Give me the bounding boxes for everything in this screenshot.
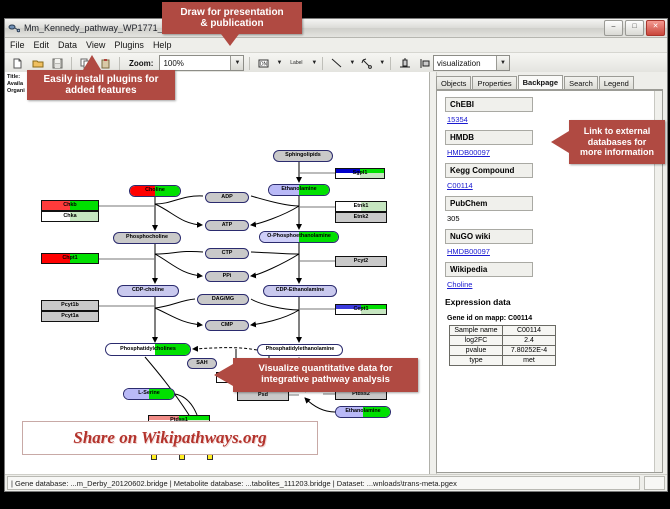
node-pcyt1a[interactable]: Pcyt1a (41, 311, 99, 322)
section-header-nugowiki: NuGO wiki (445, 229, 533, 244)
link-nugowiki[interactable]: HMDB00097 (447, 247, 662, 256)
tab-backpage[interactable]: Backpage (518, 75, 563, 89)
section-header-chebi: ChEBI (445, 97, 533, 112)
node-chpt1[interactable]: Chpt1 (41, 253, 99, 264)
menu-item-edit[interactable]: Edit (34, 40, 50, 50)
section-header-hmdb: HMDB (445, 130, 533, 145)
chevron-down-icon[interactable]: ▼ (496, 56, 509, 70)
expression-data-heading: Expression data (445, 297, 662, 307)
tab-legend[interactable]: Legend (599, 76, 634, 89)
title-bar: Mm_Kennedy_pathway_WP1771_45176.gpml - P… (5, 19, 667, 38)
node-ethanolamine-2[interactable]: Ethanolamine (335, 406, 391, 418)
node-label: PPi (223, 274, 232, 279)
node-atp[interactable]: ATP (205, 220, 249, 231)
node-label: Pcyt1b (61, 303, 79, 308)
node-etnk1[interactable]: Etnk1 (335, 201, 387, 212)
menu-item-file[interactable]: File (10, 40, 25, 50)
node-label: Cept1 (354, 307, 369, 312)
window-controls: – □ ✕ (604, 20, 665, 36)
canvas-meta-available: Availa (7, 81, 23, 87)
node-label: CDP-choline (132, 288, 164, 293)
node-label: Sphingolipids (285, 153, 321, 158)
toolbar-separator (119, 57, 120, 70)
menu-item-view[interactable]: View (86, 40, 105, 50)
node-label: Pcyt1a (61, 314, 78, 319)
node-ppi[interactable]: PPi (205, 271, 249, 282)
node-label: L-Serine (138, 391, 160, 396)
chevron-down-icon[interactable]: ▼ (379, 60, 385, 66)
callout-arrow-left-links (551, 131, 569, 153)
node-label: Sgpl1 (353, 171, 368, 176)
table-row: pvalue 7.80252E-4 (450, 346, 556, 356)
pathvisio-icon (8, 22, 20, 34)
gene-id-line: Gene id on mapp: C00114 (447, 315, 662, 322)
cell-key: log2FC (450, 336, 503, 346)
interaction-icon[interactable] (358, 55, 375, 72)
maximize-button[interactable]: □ (625, 20, 644, 36)
callout-arrow-down-draw (221, 34, 239, 46)
node-label: Choline (145, 188, 165, 193)
label-icon[interactable]: Label (285, 55, 307, 72)
node-label: Ptdss2 (352, 392, 370, 397)
node-label: Chka (63, 214, 76, 219)
datanode-icon[interactable]: DN (255, 55, 272, 72)
node-label: DAG/MG (212, 297, 234, 302)
node-label: Phosphocholine (126, 235, 168, 240)
pathway-canvas[interactable]: Title: Availa Organi (5, 72, 430, 475)
callout-install-plugins: Easily install plugins for added feature… (27, 70, 175, 100)
node-ethanolamine-1[interactable]: Ethanolamine (268, 184, 330, 196)
cell-value: met (503, 356, 556, 366)
expression-table: Sample name C00114 log2FC 2.4 pvalue 7.8… (449, 325, 556, 366)
value-pubchem: 305 (447, 214, 662, 223)
close-button[interactable]: ✕ (646, 20, 665, 36)
node-phosphatidylcholines[interactable]: Phosphatidylcholines (105, 343, 191, 356)
node-cept1[interactable]: Cept1 (335, 304, 387, 315)
tab-properties[interactable]: Properties (472, 76, 516, 89)
toolbar-separator (71, 57, 72, 70)
node-label: Ethanolamine (345, 409, 380, 414)
node-label: CMP (221, 323, 233, 328)
section-header-kegg: Kegg Compound (445, 163, 533, 178)
section-header-wikipedia: Wikipedia (445, 262, 533, 277)
node-chka[interactable]: Chka (41, 211, 99, 222)
callout-share-wikipathways: Share on Wikipathways.org (22, 421, 318, 455)
new-file-icon[interactable] (9, 55, 26, 72)
panel-tabs: Objects Properties Backpage Search Legen… (436, 75, 663, 90)
table-row: log2FC 2.4 (450, 336, 556, 346)
status-bar: | Gene database: ...m_Derby_20120602.bri… (5, 474, 667, 491)
node-label: Etnk1 (354, 204, 369, 209)
node-adp[interactable]: ADP (205, 192, 249, 203)
node-l-serine-left[interactable]: L-Serine (123, 388, 175, 400)
canvas-meta-title: Title: (7, 74, 20, 80)
cell-key: type (450, 356, 503, 366)
node-label: ADP (221, 195, 232, 200)
node-ctp[interactable]: CTP (205, 248, 249, 259)
node-label: Pcyt2 (354, 259, 368, 264)
menu-bar: File Edit Data View Plugins Help (5, 38, 667, 53)
open-folder-icon[interactable] (29, 55, 46, 72)
tab-objects[interactable]: Objects (436, 76, 471, 89)
node-label: O-Phosphoethanolamine (267, 234, 331, 239)
node-label: CTP (222, 251, 233, 256)
node-sah[interactable]: SAH (187, 358, 217, 369)
visualization-value: visualization (437, 59, 481, 68)
chevron-down-icon[interactable]: ▼ (230, 56, 243, 70)
node-phosphocholine[interactable]: Phosphocholine (113, 232, 181, 244)
callout-arrow-up-plugins (83, 55, 101, 70)
node-label: SAH (196, 361, 207, 366)
tab-search[interactable]: Search (564, 76, 598, 89)
visualization-combo[interactable]: visualization ▼ (433, 55, 510, 71)
cell-value: C00114 (503, 326, 556, 336)
cell-key: Sample name (450, 326, 503, 336)
node-label: Phosphatidylethanolamine (266, 347, 335, 352)
callout-visualize-data: Visualize quantitative data for integrat… (233, 358, 418, 392)
align-left-icon[interactable] (416, 55, 433, 72)
node-label: ATP (222, 223, 232, 228)
status-resize-grip[interactable] (644, 476, 665, 490)
canvas-meta-organism: Organi (7, 88, 25, 94)
link-kegg[interactable]: C00114 (447, 181, 662, 190)
node-pcyt2[interactable]: Pcyt2 (335, 256, 387, 267)
node-pcyt1b[interactable]: Pcyt1b (41, 300, 99, 311)
toolbar-separator (249, 57, 250, 70)
node-label: Psd (258, 393, 268, 398)
table-row: Sample name C00114 (450, 326, 556, 336)
zoom-value: 100% (163, 59, 183, 68)
callout-external-links: Link to external databases for more info… (569, 120, 665, 164)
node-label: Phosphatidylcholines (120, 347, 176, 352)
status-text: | Gene database: ...m_Derby_20120602.bri… (7, 476, 640, 490)
node-dag-mg[interactable]: DAG/MG (197, 294, 249, 305)
chevron-down-icon[interactable]: ▼ (311, 60, 317, 66)
chevron-down-icon[interactable]: ▼ (276, 60, 282, 66)
save-icon[interactable] (49, 55, 66, 72)
zoom-label: Zoom: (129, 59, 153, 68)
minimize-button[interactable]: – (604, 20, 623, 36)
node-cdp-choline[interactable]: CDP-choline (117, 285, 179, 297)
node-label: Etnk2 (354, 215, 369, 220)
table-row: type met (450, 356, 556, 366)
menu-item-help[interactable]: Help (153, 40, 172, 50)
node-cdp-ethanolamine[interactable]: CDP-Ethanolamine (263, 285, 337, 297)
node-label: CDP-Ethanolamine (276, 288, 325, 293)
node-label: Ethanolamine (281, 187, 316, 192)
line-icon[interactable] (328, 55, 345, 72)
node-phosphatidylethanolamine[interactable]: Phosphatidylethanolamine (257, 344, 343, 356)
zoom-combo[interactable]: 100% ▼ (159, 55, 244, 71)
link-wikipedia[interactable]: Choline (447, 280, 662, 289)
node-etnk2[interactable]: Etnk2 (335, 212, 387, 223)
node-choline-top[interactable]: Choline (129, 185, 181, 197)
section-header-pubchem: PubChem (445, 196, 533, 211)
align-top-icon[interactable] (396, 55, 413, 72)
chevron-down-icon[interactable]: ▼ (349, 60, 355, 66)
node-sphingolipids[interactable]: Sphingolipids (273, 150, 333, 162)
cell-value: 2.4 (503, 336, 556, 346)
node-label: Chpt1 (62, 256, 77, 261)
screenshot-root: Mm_Kennedy_pathway_WP1771_45176.gpml - P… (0, 0, 670, 509)
toolbar-separator (390, 57, 391, 70)
callout-arrow-left-visualize (214, 364, 233, 386)
cell-value: 7.80252E-4 (503, 346, 556, 356)
node-chkb[interactable]: Chkb (41, 200, 99, 211)
svg-text:DN: DN (260, 61, 268, 67)
callout-draw-for-publication: Draw for presentation & publication (162, 2, 302, 34)
node-o-phosphoethanolamine[interactable]: O-Phosphoethanolamine (259, 231, 339, 243)
toolbar-separator (322, 57, 323, 70)
node-sgpl1[interactable]: Sgpl1 (335, 168, 385, 179)
node-label: Chkb (63, 203, 76, 208)
menu-item-data[interactable]: Data (58, 40, 77, 50)
menu-item-plugins[interactable]: Plugins (114, 40, 144, 50)
cell-key: pvalue (450, 346, 503, 356)
node-cmp[interactable]: CMP (205, 320, 249, 331)
